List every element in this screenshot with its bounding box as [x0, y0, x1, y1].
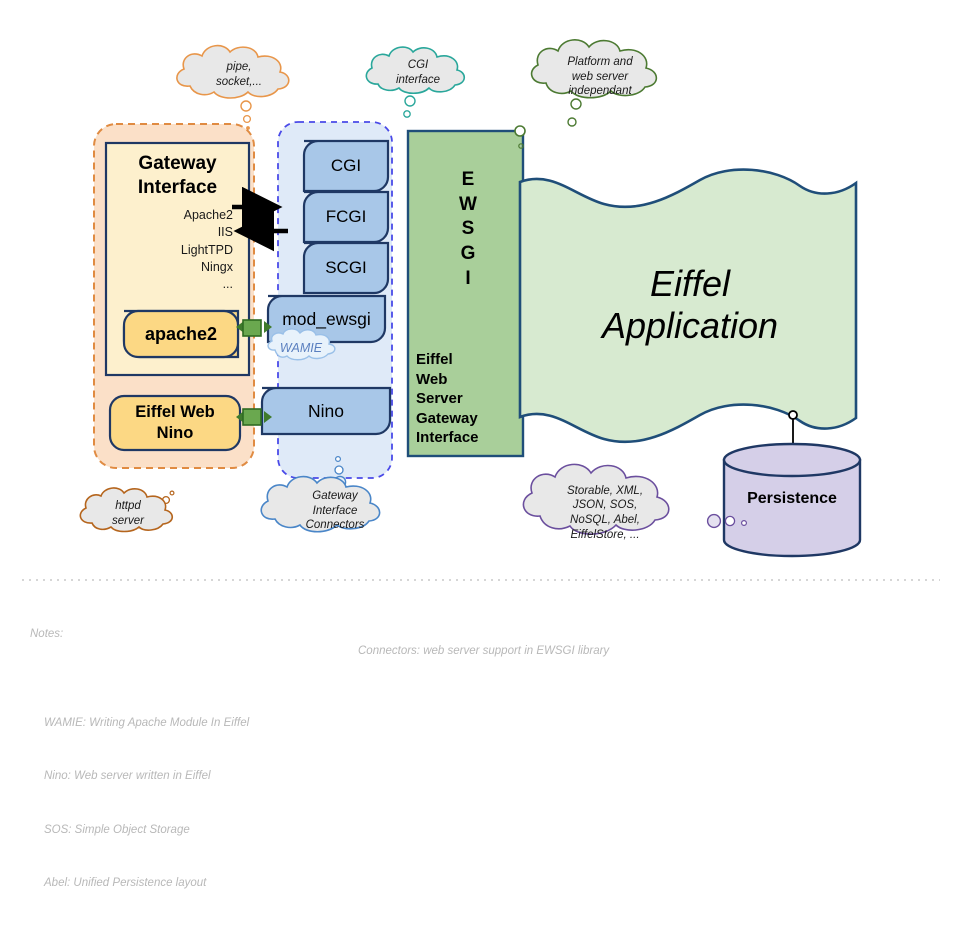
architecture-diagram-svg — [0, 0, 960, 720]
note-nino: Nino: Web server written in Eiffel — [44, 768, 390, 786]
eiffel-web-nino-box[interactable] — [110, 396, 240, 450]
connector-box-cgi[interactable] — [304, 141, 388, 191]
diagram-canvas: Gateway Interface Apache2 IIS LightTPD N… — [0, 0, 960, 720]
cloud-cgi-interface — [366, 47, 464, 117]
connector-box-scgi[interactable] — [304, 243, 388, 293]
note-sos: SOS: Simple Object Storage — [44, 822, 390, 840]
eiffel-application-flag — [520, 170, 856, 442]
ewsgi-green-panel — [408, 131, 523, 456]
note-abel: Abel: Unified Persistence layout — [44, 875, 390, 893]
cloud-storable-formats — [523, 464, 746, 534]
nino-box[interactable] — [262, 388, 390, 434]
connector-box-fcgi[interactable] — [304, 192, 388, 242]
cloud-platform-independant — [532, 40, 657, 126]
persistence-cylinder[interactable] — [724, 444, 860, 556]
cloud-httpd-server — [80, 488, 174, 532]
ewsgi-panel-handle — [515, 126, 525, 136]
apache2-box-shape — [124, 311, 238, 357]
